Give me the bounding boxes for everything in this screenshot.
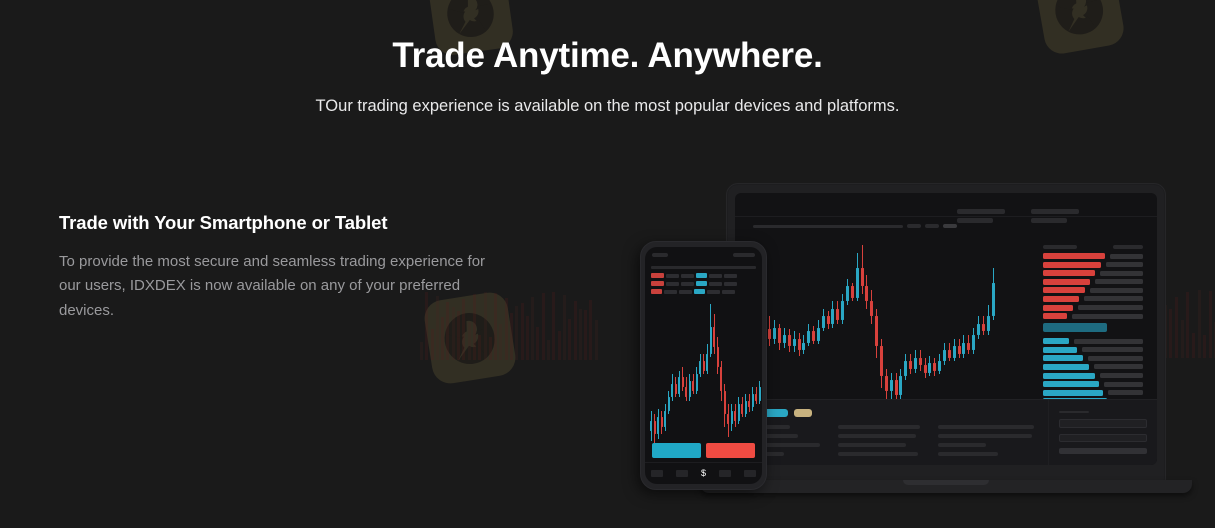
orderbook-row[interactable] [1043, 338, 1143, 344]
order-form-panel [1049, 400, 1157, 465]
tab-history[interactable] [794, 409, 812, 417]
orderbook-row[interactable] [1043, 390, 1143, 396]
laptop-symbol-row [753, 224, 957, 228]
orderbook-row[interactable] [1043, 364, 1143, 370]
orderbook-row[interactable] [1043, 270, 1143, 276]
total-input[interactable] [1059, 434, 1147, 442]
feature-title: Trade with Your Smartphone or Tablet [59, 212, 519, 234]
phone-orderbook-row[interactable] [651, 273, 756, 278]
laptop-stat-blocks [957, 209, 1079, 223]
phone-orderbook-header [651, 266, 756, 269]
orderbook-row[interactable] [1043, 279, 1143, 285]
order-row-line [938, 443, 986, 447]
orders-columns [746, 425, 1037, 456]
orderbook-row[interactable] [1043, 347, 1143, 353]
nav-item[interactable] [676, 470, 688, 477]
laptop-topbar [735, 193, 1157, 217]
orderbook-row[interactable] [1043, 373, 1143, 379]
phone-price-chart [650, 304, 757, 444]
amount-input[interactable] [1059, 419, 1147, 427]
stat-block-1 [957, 209, 1005, 223]
nav-center-icon[interactable]: $ [701, 469, 706, 478]
order-row-line [938, 434, 1032, 438]
orders-panel [735, 400, 1049, 465]
phone-trade-actions [652, 443, 755, 458]
orderbook-last-price [1043, 323, 1107, 332]
page-subtitle: TOur trading experience is available on … [0, 96, 1215, 117]
laptop-base [700, 480, 1192, 493]
feature-body: To provide the most secure and seamless … [59, 250, 499, 323]
nav-item[interactable] [651, 470, 663, 477]
phone-topbar [645, 247, 762, 263]
orderbook-header [1043, 245, 1143, 249]
nav-item[interactable] [719, 470, 731, 477]
orderbook-row[interactable] [1043, 262, 1143, 268]
laptop-screen [735, 193, 1157, 465]
laptop-notch [903, 480, 989, 485]
smartphone-device-mockup: $ [640, 241, 767, 490]
orderbook-row[interactable] [1043, 381, 1143, 387]
orderbook-row[interactable] [1043, 287, 1143, 293]
orderbook-row[interactable] [1043, 355, 1143, 361]
orderbook-row[interactable] [1043, 313, 1143, 319]
laptop-orderbook [1043, 245, 1143, 407]
phone-orderbook [651, 266, 756, 297]
landing-page-section: Trade Anytime. Anywhere. TOur trading ex… [0, 0, 1215, 528]
order-row-line [938, 452, 998, 456]
orderbook-bids [1043, 338, 1143, 404]
order-row-line [838, 425, 920, 429]
phone-screen: $ [645, 247, 762, 484]
laptop-device-mockup [726, 183, 1166, 483]
orderbook-row[interactable] [1043, 253, 1143, 259]
order-row-line [838, 443, 906, 447]
laptop-bottom-panel [735, 399, 1157, 465]
order-row-line [838, 434, 916, 438]
stat-block-2 [1031, 209, 1079, 223]
buy-button[interactable] [652, 443, 701, 458]
phone-orderbook-row[interactable] [651, 281, 756, 286]
feature-copy-block: Trade with Your Smartphone or Tablet To … [59, 212, 519, 323]
orders-tabs [746, 409, 1037, 417]
order-row-line [838, 452, 918, 456]
phone-orderbook-row[interactable] [651, 289, 756, 294]
orders-column [838, 425, 920, 456]
nav-item[interactable] [744, 470, 756, 477]
page-title: Trade Anytime. Anywhere. [0, 36, 1215, 76]
submit-order-button[interactable] [1059, 448, 1147, 454]
orderbook-row[interactable] [1043, 305, 1143, 311]
phone-bottom-nav: $ [645, 462, 762, 484]
orderbook-asks [1043, 253, 1143, 319]
hero-header: Trade Anytime. Anywhere. TOur trading ex… [0, 0, 1215, 118]
orderbook-row[interactable] [1043, 296, 1143, 302]
orders-column [938, 425, 1034, 456]
sell-button[interactable] [706, 443, 755, 458]
order-row-line [938, 425, 1034, 429]
laptop-price-chart [749, 245, 995, 410]
